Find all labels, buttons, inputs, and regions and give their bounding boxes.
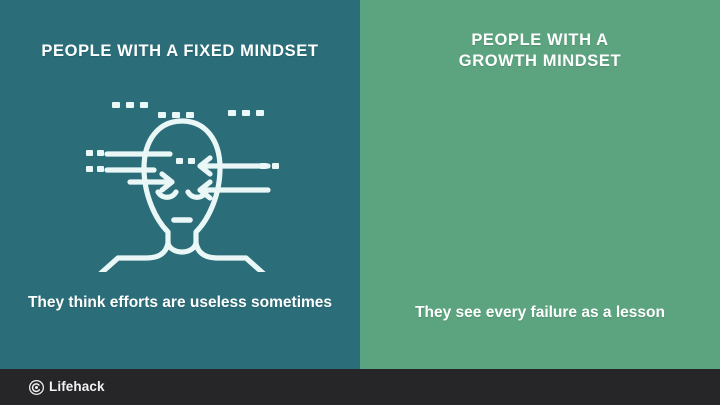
footer-bar: Lifehack [0,369,720,405]
head-with-blocked-arrows-icon [78,86,286,272]
panel-caption-fixed-mindset: They think efforts are useless sometimes [0,293,360,313]
panel-fixed-mindset: PEOPLE WITH A FIXED MINDSET [0,0,360,369]
lifehack-logo[interactable]: Lifehack [29,380,105,395]
panel-title-growth-mindset: PEOPLE WITH A GROWTH MINDSET [360,30,720,72]
infographic-slide: PEOPLE WITH A FIXED MINDSET [0,0,720,405]
lifehack-logo-text: Lifehack [49,380,105,394]
lifehack-circle-logo-icon [29,380,44,395]
panel-growth-mindset: PEOPLE WITH A GROWTH MINDSET [360,0,720,369]
panel-title-fixed-mindset: PEOPLE WITH A FIXED MINDSET [0,41,360,62]
panels-container: PEOPLE WITH A FIXED MINDSET [0,0,720,369]
panel-caption-growth-mindset: They see every failure as a lesson [360,303,720,323]
